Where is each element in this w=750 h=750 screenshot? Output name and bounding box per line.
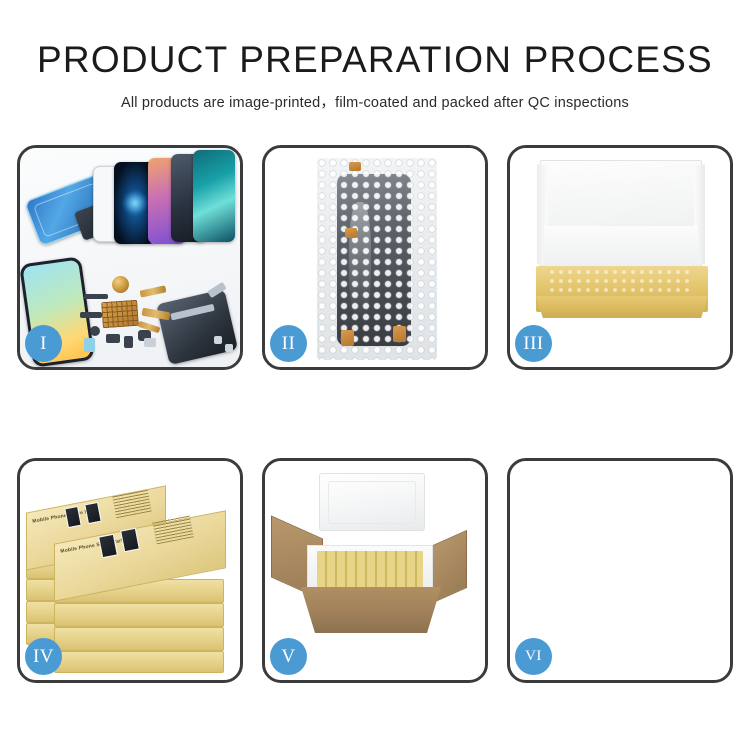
tape-piece-icon [345,228,357,238]
carton-tab-icon [510,481,524,497]
step-2-image: II [265,148,485,367]
part-screw-icon [214,336,222,344]
step-5-image: V [265,461,485,680]
header: PRODUCT PREPARATION PROCESS All products… [0,0,750,112]
carton-body-icon [301,587,441,633]
process-step-card-5[interactable]: V [262,458,488,683]
bubble-wrapped-contents-icon [548,268,694,298]
part-chip-icon [124,336,133,348]
process-step-card-6[interactable]: VI [507,458,733,683]
step-3-image: III [510,148,730,367]
process-step-card-3[interactable]: III [507,145,733,370]
step-badge-4: IV [25,638,62,675]
step-badge-3: III [515,325,552,362]
page-subtitle: All products are image-printed，film-coat… [0,91,750,112]
tape-piece-icon [349,162,361,171]
step-4-image: Mobile Phone Spare Parts Mobile Phone Sp… [20,461,240,680]
carton-top-face-icon [528,487,700,549]
stacked-box-icon [54,627,224,651]
part-block-icon [106,334,120,343]
step-badge-6: VI [515,638,552,675]
stacked-box-icon [54,603,224,627]
step-1-image: I [20,148,240,367]
chip-grid-icon [101,300,139,328]
step-badge-2: II [270,325,307,362]
carton-tape-seam-icon [512,461,627,480]
yellow-boxes-inside-icon [317,551,423,587]
part-connector-icon [80,312,102,318]
yellow-box-front-icon [536,296,708,318]
carton-tab-icon [510,465,524,481]
part-screw-icon [225,344,233,352]
part-round-icon [90,326,100,336]
bubble-texture-icon [317,158,437,360]
speaker-coil-icon [112,276,129,293]
page-title: PRODUCT PREPARATION PROCESS [0,41,750,80]
step-badge-1: I [25,325,62,362]
carton-edge-seam-icon [513,461,611,483]
foam-lid-icon [319,473,425,531]
process-step-card-4[interactable]: Mobile Phone Spare Parts Mobile Phone Sp… [17,458,243,683]
part-glass-icon [84,338,95,352]
tape-piece-icon [393,326,406,342]
process-step-grid: I II [17,145,733,683]
part-sim-tray-icon [144,338,156,347]
process-step-card-1[interactable]: I [17,145,243,370]
part-bar-icon [84,294,108,299]
step-badge-5: V [270,638,307,675]
bubble-wrap-bag-icon [317,158,437,360]
step-6-image: VI [510,461,730,680]
phone-back-housing-icon [156,289,238,365]
flex-cable-icon [140,285,167,297]
tape-piece-icon [341,330,354,346]
teal-phone-icon [193,150,235,242]
process-step-card-2[interactable]: II [262,145,488,370]
stacked-box-icon [54,651,224,673]
product-preparation-infographic: PRODUCT PREPARATION PROCESS All products… [0,0,750,750]
